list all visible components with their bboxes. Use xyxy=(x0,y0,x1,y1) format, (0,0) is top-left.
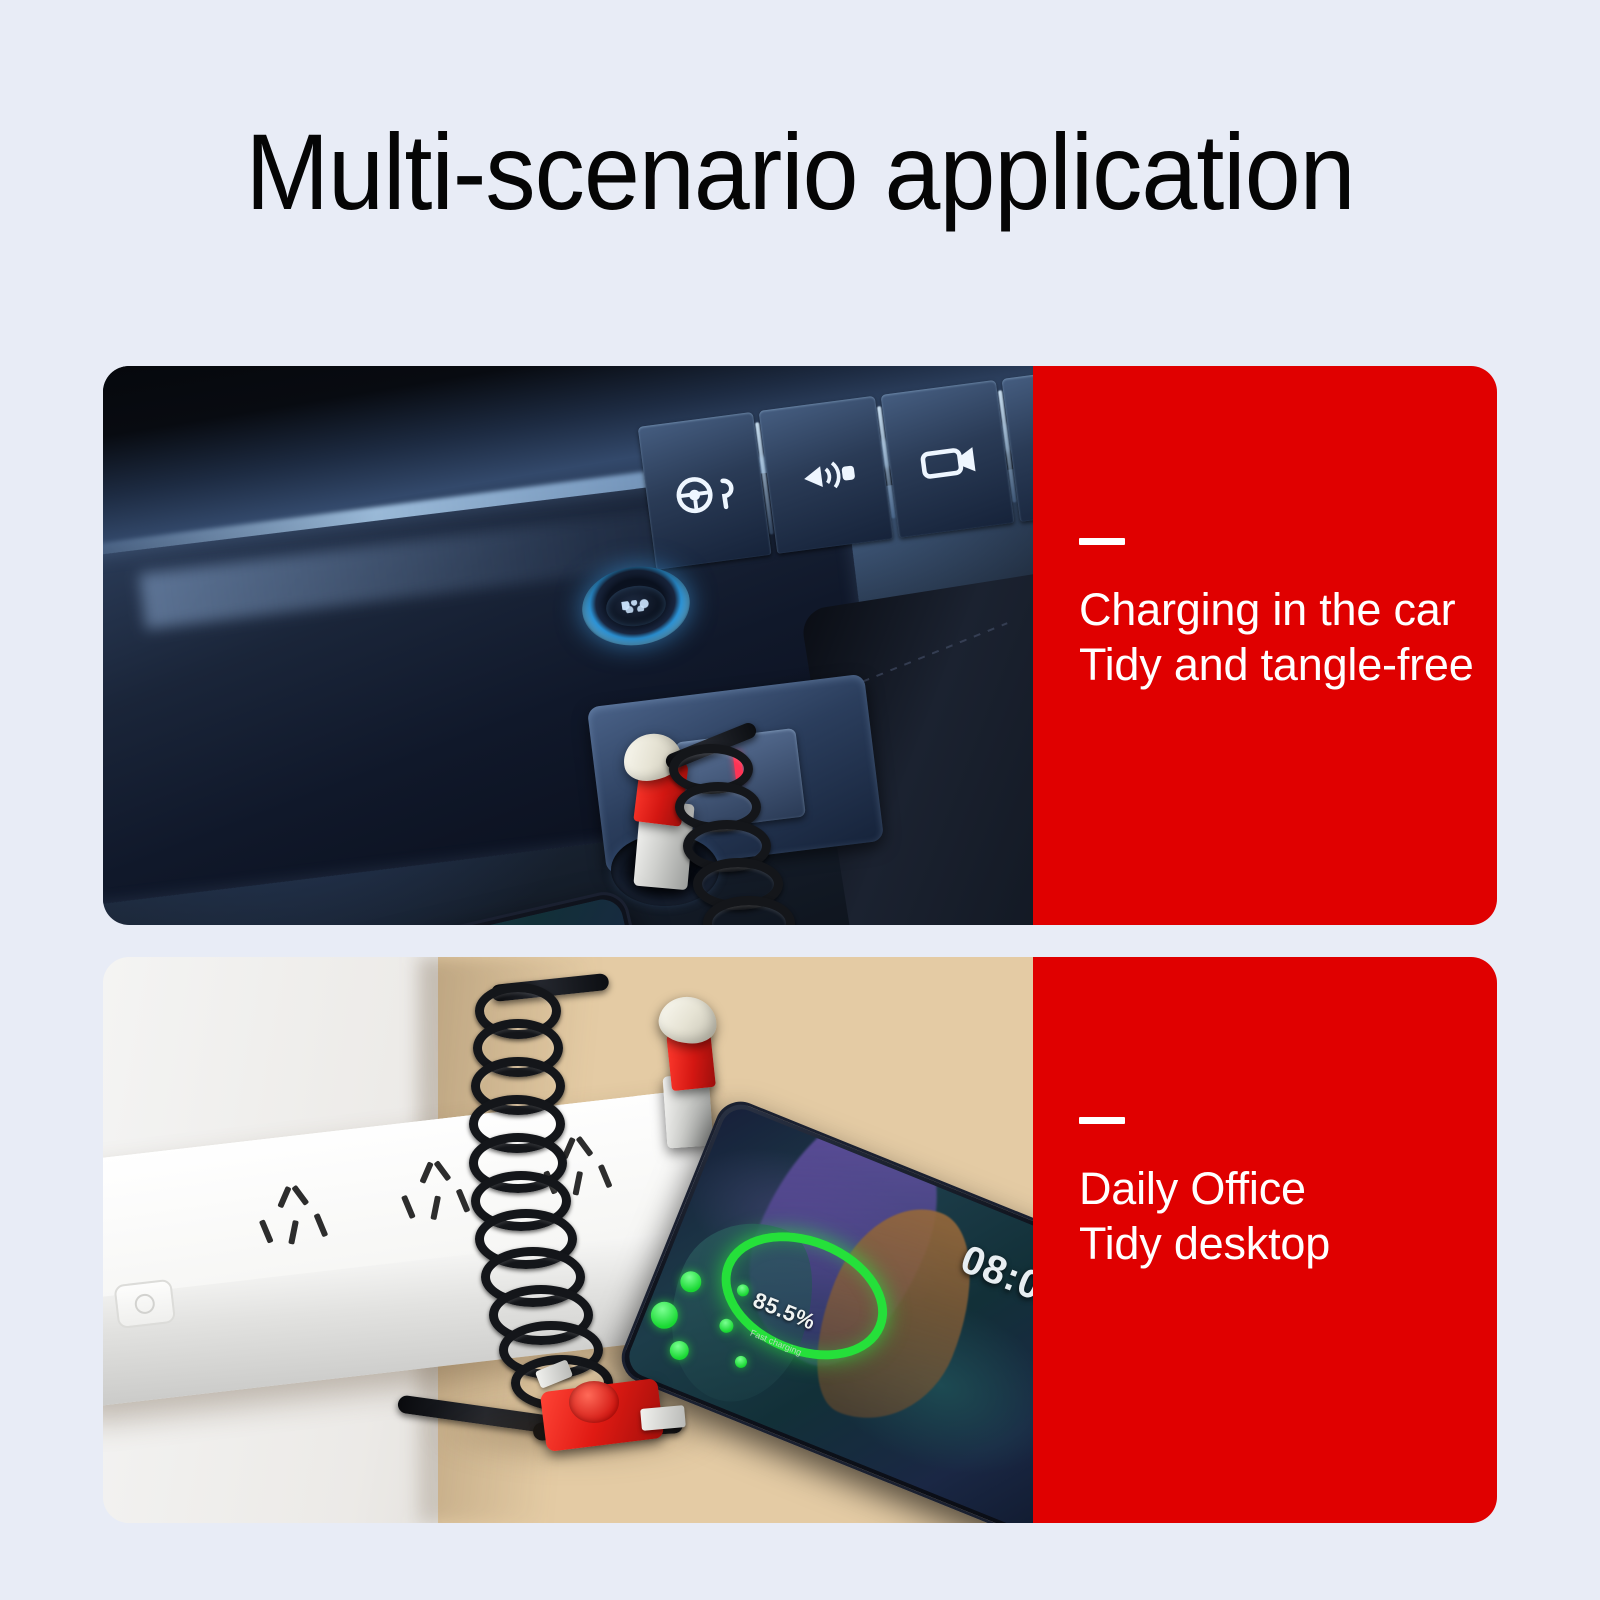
smartphone-charging: 08:08 85.5% Fast charging xyxy=(165,887,690,925)
parking-sensor-button[interactable] xyxy=(759,396,893,554)
start-stop-label xyxy=(603,582,668,630)
car-interior-background: 08:08 85.5% Fast charging xyxy=(103,366,1033,925)
parking-sensor-icon xyxy=(788,437,867,518)
scenario-card-office: 08:08 85.5% Fast charging xyxy=(103,957,1497,1523)
camera-icon xyxy=(909,421,988,502)
power-switch[interactable] xyxy=(113,1279,176,1329)
steering-wheel-icon xyxy=(666,453,745,534)
caption-panel-office: Daily Office Tidy desktop xyxy=(1033,957,1497,1523)
caption-line-2: Tidy desktop xyxy=(1079,1217,1483,1272)
caption-line-1: Daily Office xyxy=(1079,1162,1483,1217)
caption-panel-car: Charging in the car Tidy and tangle-free xyxy=(1033,366,1497,925)
parking-assist-button[interactable] xyxy=(638,412,772,570)
caption-line-2: Tidy and tangle-free xyxy=(1079,638,1483,693)
accent-dash xyxy=(1079,538,1125,545)
scenario-card-car: 08:08 85.5% Fast charging xyxy=(103,366,1497,925)
page-title: Multi-scenario application xyxy=(56,118,1544,226)
accent-dash xyxy=(1079,1117,1125,1124)
power-socket[interactable] xyxy=(251,1175,346,1270)
desk-background: 08:08 85.5% Fast charging xyxy=(103,957,1033,1523)
lightning-tip xyxy=(640,1405,686,1431)
car-interior-photo: 08:08 85.5% Fast charging xyxy=(103,366,1033,925)
desk-office-photo: 08:08 85.5% Fast charging xyxy=(103,957,1033,1523)
caption-line-1: Charging in the car xyxy=(1079,583,1483,638)
dashboard-button-row xyxy=(632,366,1033,570)
wallpaper-shape xyxy=(233,895,452,925)
connector-logo-disc xyxy=(569,1381,619,1423)
surround-camera-button[interactable] xyxy=(881,380,1015,538)
phone-screen: 08:08 85.5% Fast charging xyxy=(174,895,683,925)
